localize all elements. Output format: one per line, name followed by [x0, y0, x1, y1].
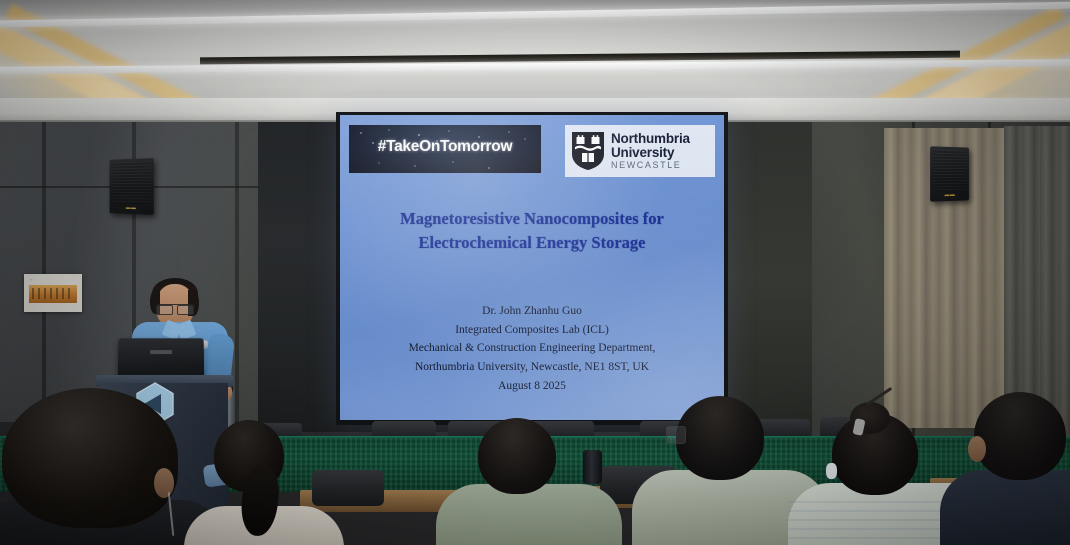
audience-shirt — [436, 484, 622, 545]
wall-speaker-right: ▬▬ — [930, 146, 969, 201]
slide-affiliation: Northumbria University, Newcastle, NE1 8… — [340, 358, 724, 377]
speaker-brand-label: ▬▬ — [945, 192, 956, 198]
audience-shirt — [940, 470, 1070, 545]
ceiling — [0, 0, 1070, 122]
lecture-hall-photo: ▬▬ ▬▬ ▫▫ #TakeOnTomorrow — [0, 0, 1070, 545]
northumbria-shield-icon — [571, 131, 605, 171]
audience-head — [676, 396, 764, 480]
banner-hashtag-text: #TakeOnTomorrow — [349, 138, 541, 156]
northumbria-logo-block: Northumbria University NEWCASTLE — [565, 125, 715, 177]
slide-lab-name: Integrated Composites Lab (ICL) — [340, 321, 724, 340]
glasses-lens-right — [177, 305, 194, 315]
framed-wall-artwork: ▫▫ — [24, 274, 82, 312]
audience-ear — [968, 436, 986, 462]
audience-head — [2, 388, 178, 528]
audience-center — [452, 418, 602, 545]
audience-glasses-icon — [666, 426, 686, 444]
audience-head — [974, 392, 1066, 480]
speaker-grille — [112, 161, 150, 204]
audience-center-right — [648, 396, 808, 545]
speaker-grille — [933, 149, 966, 191]
projection-screen: #TakeOnTomorrow Northumbria University N… — [340, 115, 724, 420]
laptop-brand-logo — [150, 350, 172, 354]
slide-title-line-2: Electrochemical Energy Storage — [340, 231, 724, 255]
slide-author-block: Dr. John Zhanhu Guo Integrated Composite… — [340, 302, 724, 395]
left-wall-seam-3 — [235, 122, 239, 422]
slide-date: August 8 2025 — [340, 377, 724, 396]
takeontomorrow-banner: #TakeOnTomorrow — [349, 125, 541, 173]
left-wall-seam-1 — [42, 122, 46, 422]
audience-ear — [154, 468, 174, 498]
slide-title: Magnetoresistive Nanocomposites for Elec… — [340, 207, 724, 255]
wall-speaker-left: ▬▬ — [110, 158, 154, 215]
audience-head — [478, 418, 556, 494]
audience-right-edge — [966, 392, 1070, 545]
earbud — [826, 463, 837, 479]
artwork-caption: ▫▫ — [30, 277, 33, 282]
logo-line-3: NEWCASTLE — [611, 161, 690, 170]
logo-line-2: University — [611, 146, 690, 160]
slide-department: Mechanical & Construction Engineering De… — [340, 339, 724, 358]
glasses-lens-left — [156, 305, 173, 315]
artwork-brushmarks — [32, 288, 74, 299]
presenter-glasses-icon — [156, 304, 194, 314]
logo-line-1: Northumbria — [611, 132, 690, 146]
slide-presenter-name: Dr. John Zhanhu Guo — [340, 302, 724, 321]
northumbria-logo-text: Northumbria University NEWCASTLE — [611, 132, 690, 170]
audience-ponytail — [190, 420, 340, 545]
slide-title-line-1: Magnetoresistive Nanocomposites for — [340, 207, 724, 231]
speaker-brand-label: ▬▬ — [126, 205, 137, 211]
